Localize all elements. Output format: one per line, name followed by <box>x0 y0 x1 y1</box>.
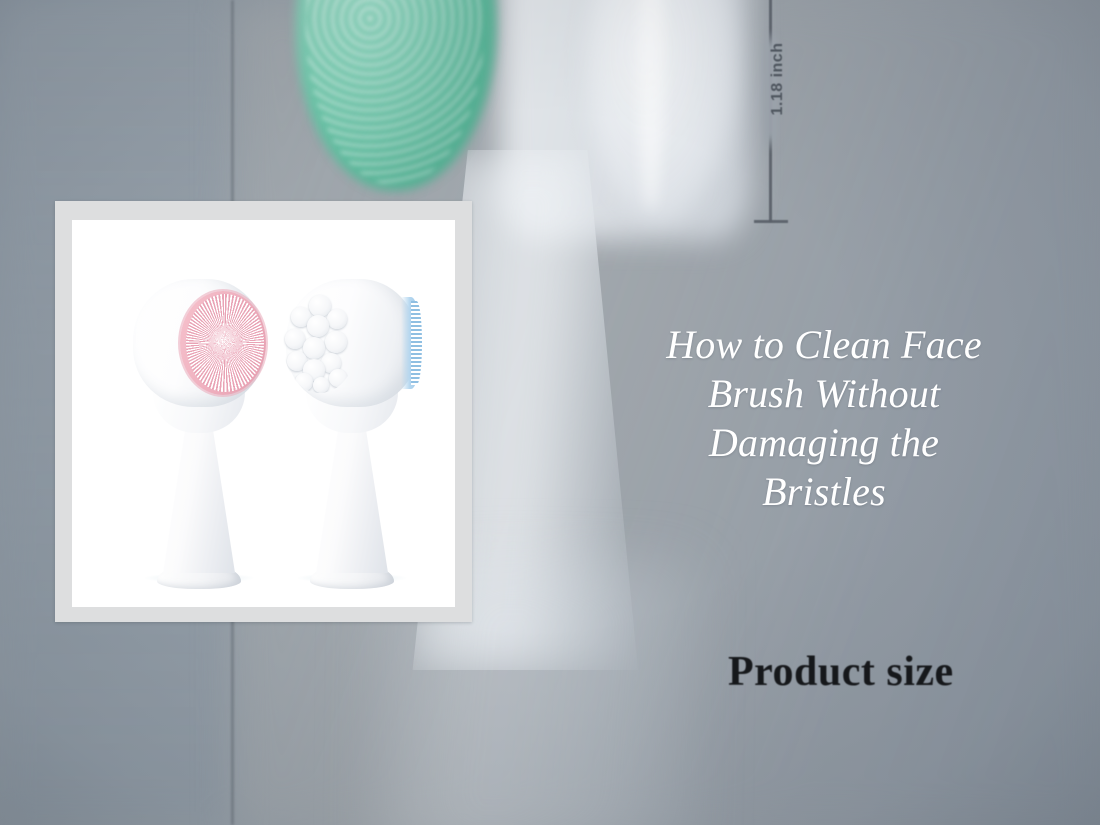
dimension-annotation: 1.18 inch <box>740 0 802 230</box>
brush-massage-nubs <box>283 293 357 393</box>
title-line-4: Bristles <box>596 467 1052 516</box>
inset-photo-frame <box>55 201 472 622</box>
inset-product-photo <box>72 220 455 607</box>
brush-handle <box>163 423 235 573</box>
brush-pad-pink-highlight <box>208 325 242 361</box>
product-face-brush-pink <box>124 279 274 589</box>
dimension-label: 1.18 inch <box>769 19 787 139</box>
featured-image-canvas: 1.18 inch Product size How to Clean Face… <box>0 0 1100 825</box>
title-line-1: How to Clean Face <box>596 320 1052 369</box>
title-line-2: Brush Without <box>596 369 1052 418</box>
brush-bristles-blue <box>411 301 422 385</box>
product-face-brush-blue <box>277 279 427 589</box>
dimension-tick-bottom <box>754 220 788 223</box>
title-line-3: Damaging the <box>596 418 1052 467</box>
product-size-caption: Product size <box>728 648 954 696</box>
brush-handle <box>316 423 388 573</box>
page-title: How to Clean Face Brush Without Damaging… <box>596 320 1052 516</box>
